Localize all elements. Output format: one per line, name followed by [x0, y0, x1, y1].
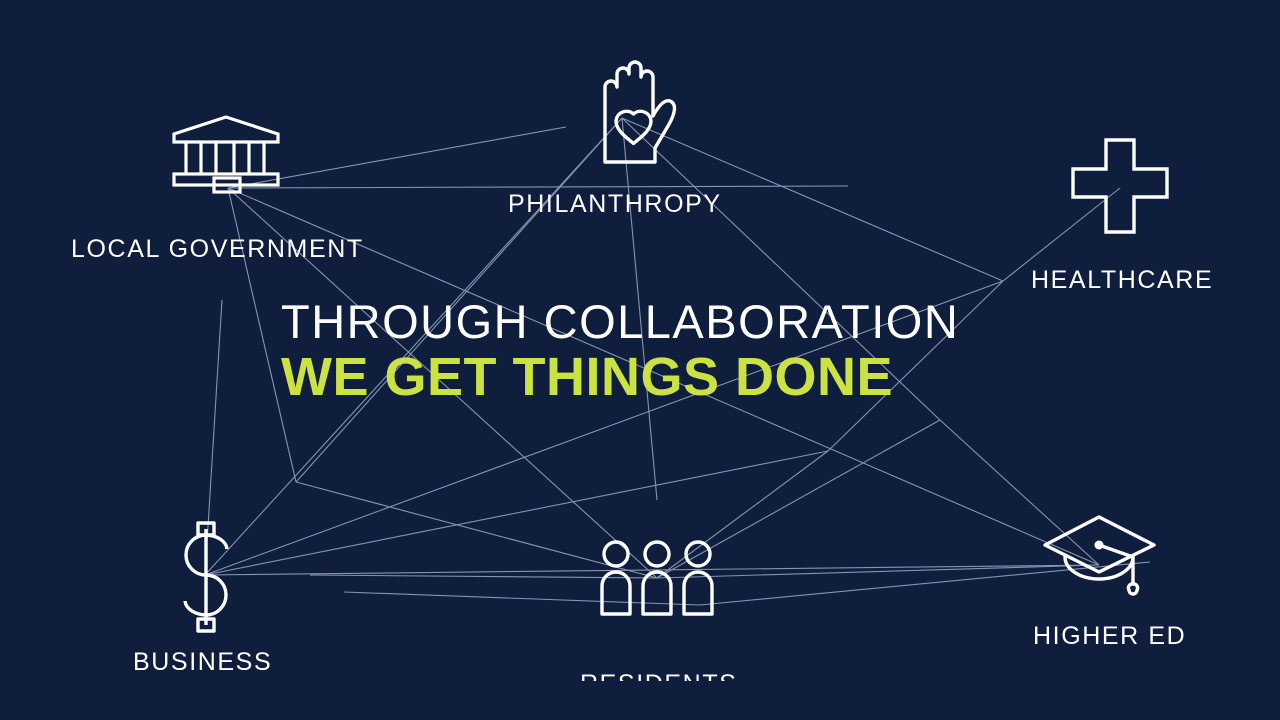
hand-heart-icon [592, 44, 684, 170]
node-label-business: BUSINESS [133, 650, 323, 672]
node-label-clip-business: BUSINESS [133, 650, 323, 672]
node-local-government[interactable] [170, 112, 282, 194]
node-business[interactable] [170, 519, 242, 635]
node-higher-ed[interactable] [1040, 512, 1160, 602]
node-label-local-government: LOCAL GOVERNMENT [71, 237, 364, 262]
node-residents[interactable] [598, 538, 718, 616]
node-label-healthcare: HEALTHCARE [1031, 268, 1261, 291]
dollar-sign-icon [170, 519, 242, 635]
classical-building-icon [170, 112, 282, 194]
node-label-clip-residents: RESIDENTS [580, 672, 790, 681]
headline-line-accent: WE GET THINGS DONE [281, 348, 959, 406]
node-label-clip-philanthropy: PHILANTHROPY [508, 192, 758, 214]
node-label-residents: RESIDENTS [580, 672, 790, 681]
graduation-cap-icon [1040, 512, 1160, 602]
node-philanthropy[interactable] [592, 44, 684, 170]
node-label-philanthropy: PHILANTHROPY [508, 192, 758, 214]
node-label-clip-healthcare: HEALTHCARE [1031, 268, 1261, 291]
medical-cross-icon [1069, 136, 1171, 238]
node-healthcare[interactable] [1069, 136, 1171, 238]
headline-line-primary: THROUGH COLLABORATION [281, 296, 959, 348]
headline-block: THROUGH COLLABORATION WE GET THINGS DONE [281, 296, 959, 406]
three-people-icon [598, 538, 718, 616]
slide-canvas: LOCAL GOVERNMENT PHILANTHROPY HEALTHCARE [0, 0, 1280, 720]
node-label-higher-ed: HIGHER ED [1033, 624, 1186, 649]
